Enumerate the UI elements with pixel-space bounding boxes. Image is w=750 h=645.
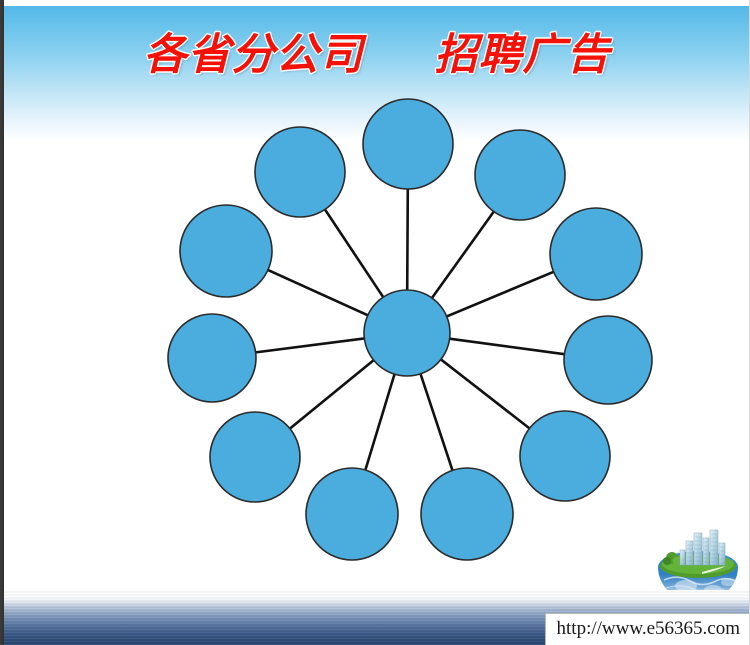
satellite-node-6[interactable] <box>421 468 513 560</box>
satellite-node-4[interactable] <box>564 316 652 404</box>
spoke-line-5 <box>440 359 530 429</box>
slide-left-border <box>2 0 4 645</box>
spoke-line-4 <box>449 339 566 355</box>
satellite-node-3[interactable] <box>550 208 642 300</box>
spoke-line-9 <box>255 338 366 352</box>
satellite-node-11[interactable] <box>255 127 345 217</box>
satellite-node-1[interactable] <box>363 99 453 189</box>
spoke-line-10 <box>267 270 369 316</box>
node-circles-group <box>168 99 652 560</box>
spoke-line-8 <box>289 360 374 430</box>
spoke-line-11 <box>324 209 383 298</box>
satellite-node-9[interactable] <box>168 314 256 402</box>
satellite-node-7[interactable] <box>306 468 398 560</box>
spoke-line-2 <box>431 211 494 299</box>
spoke-line-3 <box>446 271 555 316</box>
spoke-line-7 <box>365 373 395 471</box>
spoke-line-6 <box>420 373 453 471</box>
hub-and-spoke-diagram <box>2 0 750 645</box>
satellite-node-2[interactable] <box>475 130 565 220</box>
center-node[interactable] <box>364 290 450 376</box>
satellite-node-10[interactable] <box>180 205 272 297</box>
watermark-url: http://www.e56365.com <box>545 613 749 645</box>
spoke-line-1 <box>407 188 408 291</box>
slide-canvas: 各省分公司 招聘广告 <box>0 0 750 645</box>
satellite-node-5[interactable] <box>520 411 610 501</box>
satellite-node-8[interactable] <box>210 412 300 502</box>
